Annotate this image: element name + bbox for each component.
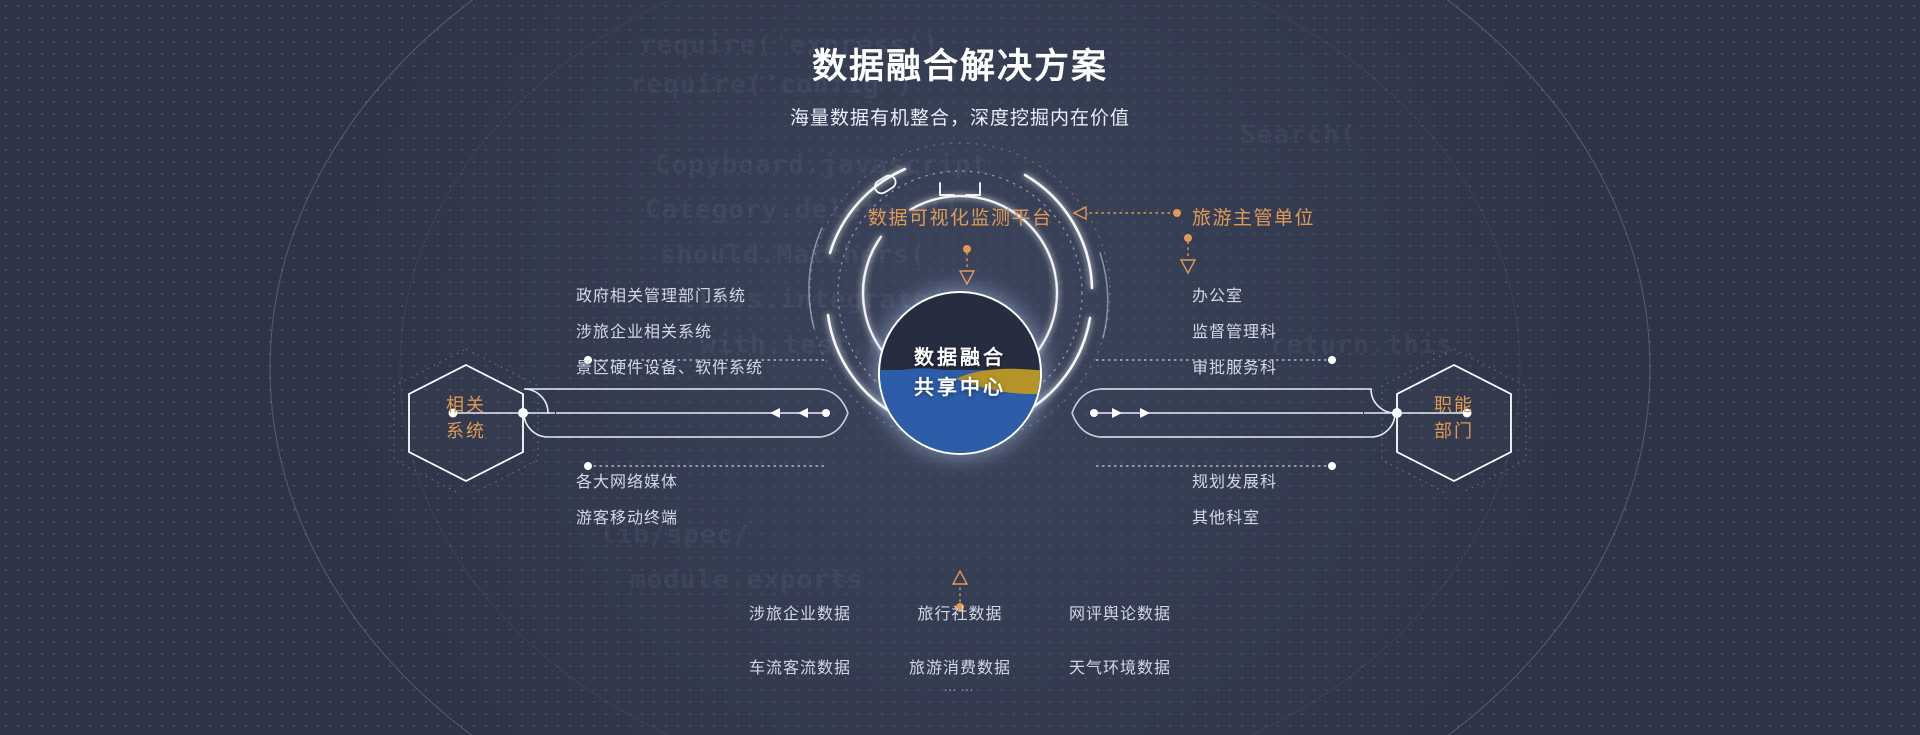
hexagon-right-label: 职能 部门: [1374, 343, 1534, 493]
bottom-item-1[interactable]: 旅行社数据: [880, 600, 1040, 624]
left-bottom-item-0[interactable]: 各大网络媒体: [576, 468, 678, 492]
bottom-ellipsis: ……: [943, 678, 977, 694]
bottom-item-4[interactable]: 旅游消费数据: [880, 654, 1040, 678]
bottom-item-5[interactable]: 天气环境数据: [1040, 654, 1200, 678]
bottom-item-2[interactable]: 网评舆论数据: [1040, 600, 1200, 624]
right-item-1[interactable]: 监督管理科: [1192, 318, 1277, 342]
sphere-label-line2: 共享中心: [914, 373, 1006, 403]
page-title: 数据融合解决方案: [0, 38, 1920, 89]
left-item-0[interactable]: 政府相关管理部门系统: [576, 282, 746, 306]
hexagon-left-label: 相关 系统: [386, 343, 546, 493]
right-item-2[interactable]: 审批服务科: [1192, 354, 1277, 378]
label-tourism-authority[interactable]: 旅游主管单位: [1192, 203, 1315, 230]
hex-left-line1: 相关: [446, 392, 486, 418]
left-bottom-item-1[interactable]: 游客移动终端: [576, 504, 678, 528]
center-sphere: 数据融合 共享中心: [880, 293, 1040, 453]
bottom-item-0[interactable]: 涉旅企业数据: [720, 600, 880, 624]
label-data-visualization-platform[interactable]: 数据可视化监测平台: [868, 203, 1053, 230]
sphere-label: 数据融合 共享中心: [880, 293, 1040, 453]
right-item-0[interactable]: 办公室: [1192, 282, 1243, 306]
bottom-item-3[interactable]: 车流客流数据: [720, 654, 880, 678]
infographic-canvas: require('express')require('config')Copyb…: [0, 0, 1920, 735]
bottom-data-grid: 涉旅企业数据 旅行社数据 网评舆论数据 车流客流数据 旅游消费数据 天气环境数据: [720, 600, 1200, 678]
sphere-label-line1: 数据融合: [914, 343, 1006, 373]
bottom-ellipsis-row: ……: [0, 678, 1920, 696]
hex-right-line1: 职能: [1434, 392, 1474, 418]
left-item-2[interactable]: 景区硬件设备、软件系统: [576, 354, 763, 378]
hex-left-line2: 系统: [446, 418, 486, 444]
hexagon-right-functional-departments[interactable]: 职能 部门: [1374, 343, 1534, 493]
background-code-line: module.exports: [630, 565, 863, 595]
left-item-1[interactable]: 涉旅企业相关系统: [576, 318, 712, 342]
right-bottom-item-0[interactable]: 规划发展科: [1192, 468, 1277, 492]
hex-right-line2: 部门: [1434, 418, 1474, 444]
right-bottom-item-1[interactable]: 其他科室: [1192, 504, 1260, 528]
hexagon-left-related-systems[interactable]: 相关 系统: [386, 343, 546, 493]
